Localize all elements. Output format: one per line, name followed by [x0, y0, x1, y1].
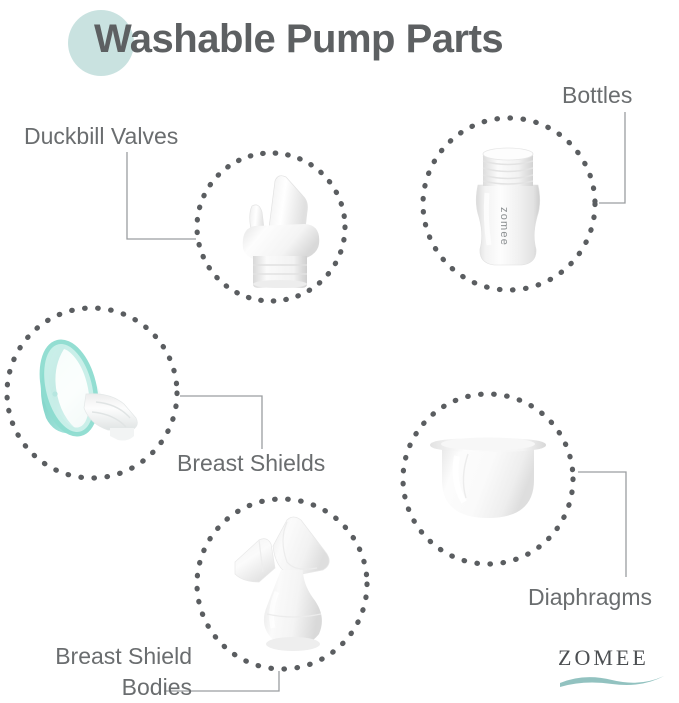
zomee-wordmark: ZOMEE	[558, 646, 666, 670]
zomee-wave-icon	[558, 671, 666, 689]
zomee-logo: ZOMEE	[558, 646, 666, 692]
callout-label-line-2: Bodies	[12, 672, 192, 703]
leader-line-breast-shield-bodies	[0, 0, 679, 701]
callout-label-line-1: Breast Shield	[12, 641, 192, 672]
poster-canvas: Washable Pump Parts	[0, 0, 679, 701]
callout-label-breast-shield-bodies: Breast Shield Bodies	[12, 641, 192, 703]
